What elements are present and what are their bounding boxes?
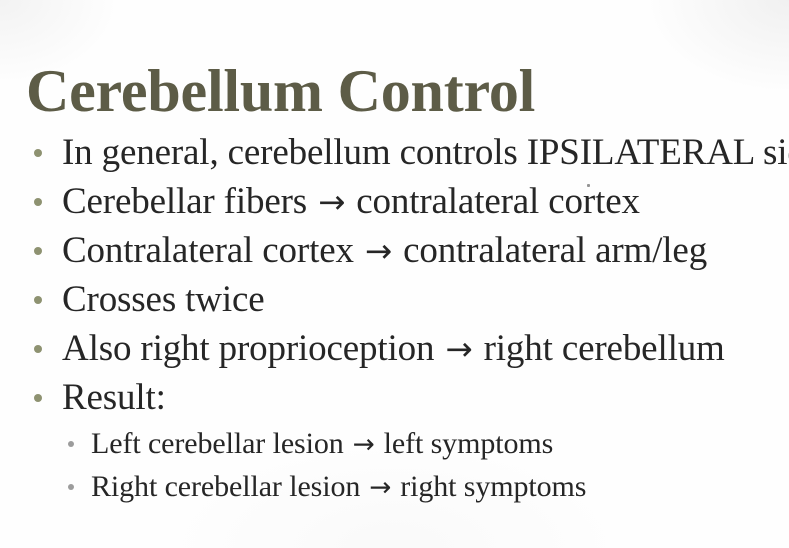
sub-bullet-item: Right cerebellar lesion → right symptoms bbox=[0, 470, 789, 513]
bullet-marker-icon bbox=[34, 198, 42, 206]
bullet-text-after-arrow: left symptoms bbox=[376, 427, 553, 460]
sub-bullet-item: Left cerebellar lesion → left symptoms bbox=[0, 427, 789, 470]
bullet-marker-icon bbox=[34, 149, 42, 157]
right-arrow-icon: → bbox=[368, 472, 393, 503]
bullet-text: Also right proprioception → right cerebe… bbox=[62, 329, 725, 369]
sub-bullet-marker-icon bbox=[68, 441, 74, 447]
bullet-text-after-arrow: right cerebellum bbox=[475, 328, 725, 369]
bullet-text-before-arrow: Right cerebellar lesion bbox=[91, 470, 368, 503]
bullet-text-before-arrow: Contralateral cortex bbox=[62, 230, 363, 271]
bullet-item: In general, cerebellum controls IPSILATE… bbox=[0, 133, 789, 182]
right-arrow-icon: → bbox=[443, 330, 474, 368]
bullet-item: Crosses twice bbox=[0, 280, 789, 329]
bullet-item: Cerebellar fibers → contralateral cortex bbox=[0, 182, 789, 231]
slide-body-bullet-list: In general, cerebellum controls IPSILATE… bbox=[0, 133, 789, 513]
slide-title: Cerebellum Control bbox=[26, 56, 766, 126]
bullet-text-after-arrow: contralateral cortex bbox=[347, 181, 640, 222]
presentation-slide: Cerebellum Control In general, cerebellu… bbox=[0, 0, 789, 548]
bullet-item: Also right proprioception → right cerebe… bbox=[0, 329, 789, 378]
bullet-item: Contralateral cortex → contralateral arm… bbox=[0, 231, 789, 280]
bullet-text: Result: bbox=[62, 378, 166, 418]
bullet-marker-icon bbox=[34, 296, 42, 304]
bullet-text: Cerebellar fibers → contralateral cortex bbox=[62, 182, 640, 222]
bullet-marker-icon bbox=[34, 394, 42, 402]
bullet-text-after-arrow: right symptoms bbox=[393, 470, 587, 503]
right-arrow-icon: → bbox=[316, 183, 347, 221]
bullet-marker-icon bbox=[34, 247, 42, 255]
bullet-text: Crosses twice bbox=[62, 280, 265, 320]
bullet-text-before-arrow: Left cerebellar lesion bbox=[91, 427, 351, 460]
bullet-text: Left cerebellar lesion → left symptoms bbox=[91, 427, 553, 461]
bullet-marker-icon bbox=[34, 345, 42, 353]
bullet-text-before-arrow: Cerebellar fibers bbox=[62, 181, 316, 222]
right-arrow-icon: → bbox=[351, 429, 376, 460]
sub-bullet-marker-icon bbox=[68, 484, 74, 490]
bullet-text: Contralateral cortex → contralateral arm… bbox=[62, 231, 707, 271]
right-arrow-icon: → bbox=[363, 232, 394, 270]
scan-artifact-speck bbox=[587, 184, 590, 187]
bullet-text-before-arrow: Also right proprioception bbox=[62, 328, 443, 369]
bullet-text-after-arrow: contralateral arm/leg bbox=[394, 230, 707, 271]
bullet-item: Result: bbox=[0, 378, 789, 427]
bullet-text: Right cerebellar lesion → right symptoms bbox=[91, 470, 586, 504]
bullet-text: In general, cerebellum controls IPSILATE… bbox=[62, 133, 789, 173]
